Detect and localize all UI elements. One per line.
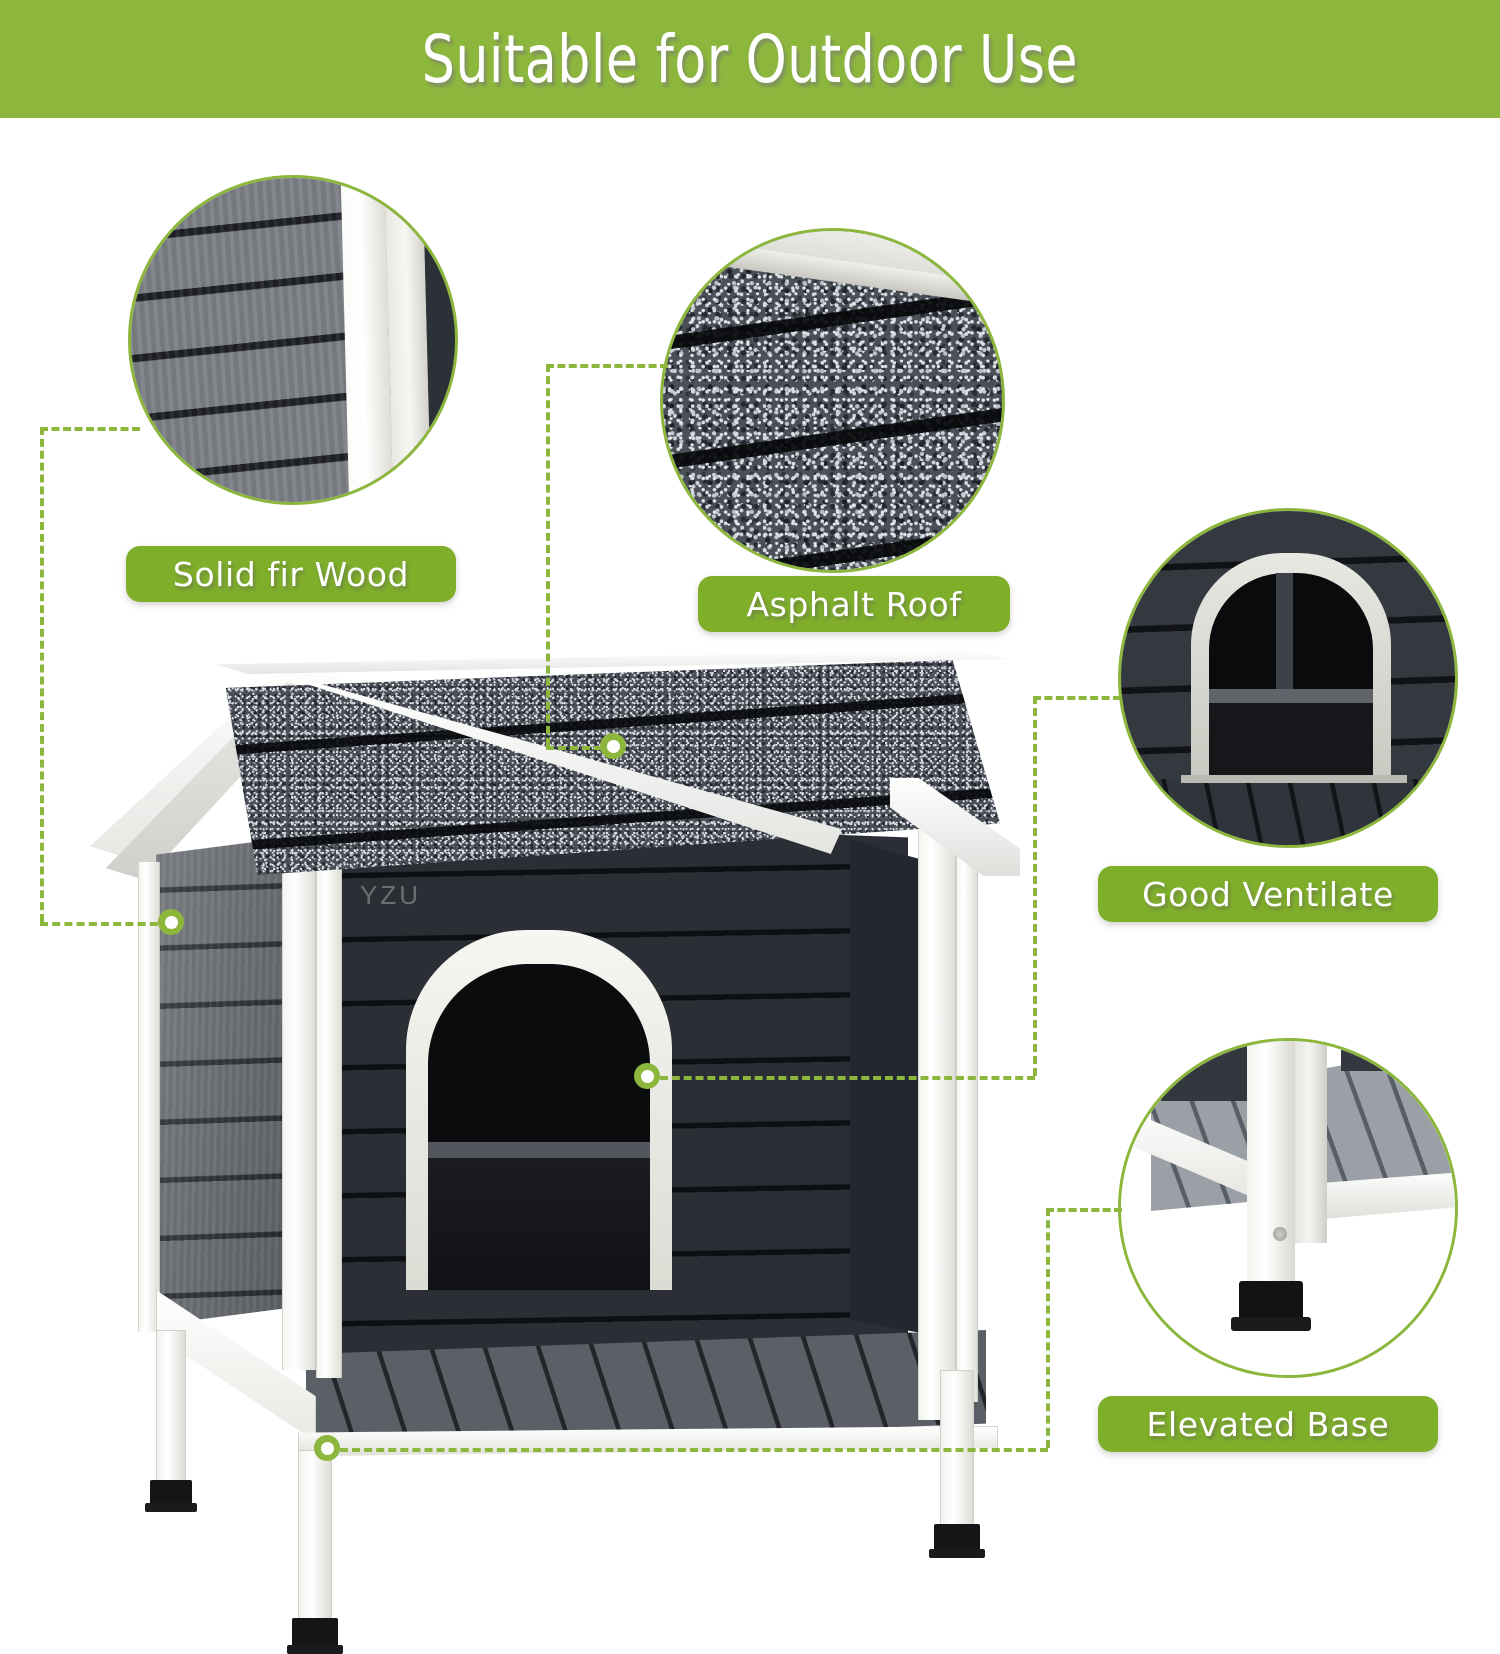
header-banner: Suitable for Outdoor Use [0, 0, 1500, 118]
callout-circle-elevated-base [1118, 1038, 1458, 1378]
leg-front-left [298, 1450, 332, 1620]
doorway-inner-floor [428, 1158, 650, 1290]
marker-dot-asphalt-roof [600, 733, 626, 759]
connector-solid-fir-wood-vertical [40, 427, 44, 922]
foot-cap-front-left [292, 1618, 338, 1648]
connector-good-ventilate-vertical [1033, 696, 1037, 1076]
base-leg-detail [1247, 1038, 1295, 1289]
connector-elevated-base-bottom [340, 1448, 1048, 1452]
feature-label-text: Good Ventilate [1142, 875, 1394, 914]
marker-dot-elevated-base [314, 1435, 340, 1461]
connector-good-ventilate-bottom [660, 1076, 1035, 1080]
marker-dot-solid-fir-wood [158, 909, 184, 935]
feature-label-elevated-base: Elevated Base [1098, 1396, 1438, 1452]
feature-label-text: Asphalt Roof [746, 585, 961, 624]
feature-label-asphalt-roof: Asphalt Roof [698, 576, 1010, 632]
connector-solid-fir-wood-bottom [40, 922, 170, 926]
vent-porch-floor [1118, 779, 1458, 848]
connector-asphalt-roof-vertical [546, 364, 550, 746]
leg-back-left [156, 1330, 186, 1482]
vent-interior-vertical-beam [1276, 573, 1293, 695]
connector-elevated-base-top [1046, 1208, 1122, 1212]
front-right-post [918, 830, 956, 1420]
feature-label-solid-fir-wood: Solid fir Wood [126, 546, 456, 602]
callout-circle-solid-fir-wood [128, 175, 458, 505]
connector-elevated-base-vertical [1046, 1208, 1050, 1448]
connector-asphalt-roof-top [546, 364, 668, 368]
back-right-post [956, 842, 978, 1402]
front-left-post-inner [316, 798, 342, 1378]
marker-dot-good-ventilate [634, 1063, 660, 1089]
back-left-post [138, 862, 160, 1332]
feature-label-good-ventilate: Good Ventilate [1098, 866, 1438, 922]
foot-cap-front-right [934, 1524, 980, 1552]
doorway-inner-beam [428, 1142, 650, 1158]
screw-icon [1273, 1227, 1287, 1241]
connector-solid-fir-wood-top [40, 427, 140, 431]
watermark: YZU [360, 880, 421, 911]
foot-cap-back-left [150, 1480, 192, 1506]
feature-label-text: Elevated Base [1147, 1405, 1390, 1444]
page-title: Suitable for Outdoor Use [422, 21, 1078, 98]
vent-interior-horizontal-beam [1209, 689, 1373, 703]
connector-good-ventilate-top [1033, 696, 1121, 700]
arched-doorway [406, 930, 672, 1290]
callout-circle-good-ventilate [1118, 508, 1458, 848]
product-image: YZU [60, 630, 1050, 1490]
feature-label-text: Solid fir Wood [173, 555, 409, 594]
callout-circle-asphalt-roof [660, 228, 1005, 573]
